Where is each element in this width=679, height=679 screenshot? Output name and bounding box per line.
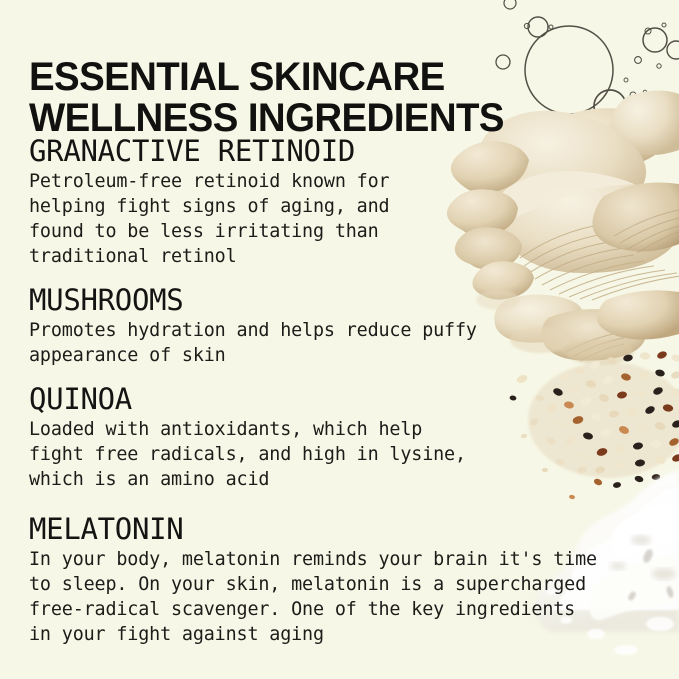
ingredient-section-quinoa: QUINOA Loaded with antioxidants, which h… xyxy=(29,384,659,492)
ingredient-heading: GRANACTIVE RETINOID xyxy=(29,136,659,167)
ingredient-heading: MUSHROOMS xyxy=(29,285,659,316)
ingredients-poster: ESSENTIAL SKINCARE WELLNESS INGREDIENTS … xyxy=(0,0,679,679)
ingredient-description: Petroleum-free retinoid known for helpin… xyxy=(29,169,659,269)
poster-text-layer: ESSENTIAL SKINCARE WELLNESS INGREDIENTS … xyxy=(0,0,679,679)
ingredient-heading: QUINOA xyxy=(29,384,659,415)
ingredient-section-mushrooms: MUSHROOMS Promotes hydration and helps r… xyxy=(29,285,659,368)
ingredient-description: In your body, melatonin reminds your bra… xyxy=(29,547,659,647)
ingredient-description: Promotes hydration and helps reduce puff… xyxy=(29,318,659,368)
page-title: ESSENTIAL SKINCARE WELLNESS INGREDIENTS xyxy=(29,57,528,139)
ingredient-heading: MELATONIN xyxy=(29,514,659,545)
ingredient-description: Loaded with antioxidants, which help fig… xyxy=(29,417,659,492)
ingredient-section-granactive-retinoid: GRANACTIVE RETINOID Petroleum-free retin… xyxy=(29,136,659,269)
ingredient-section-list: GRANACTIVE RETINOID Petroleum-free retin… xyxy=(29,136,659,663)
ingredient-section-melatonin: MELATONIN In your body, melatonin remind… xyxy=(29,514,659,647)
